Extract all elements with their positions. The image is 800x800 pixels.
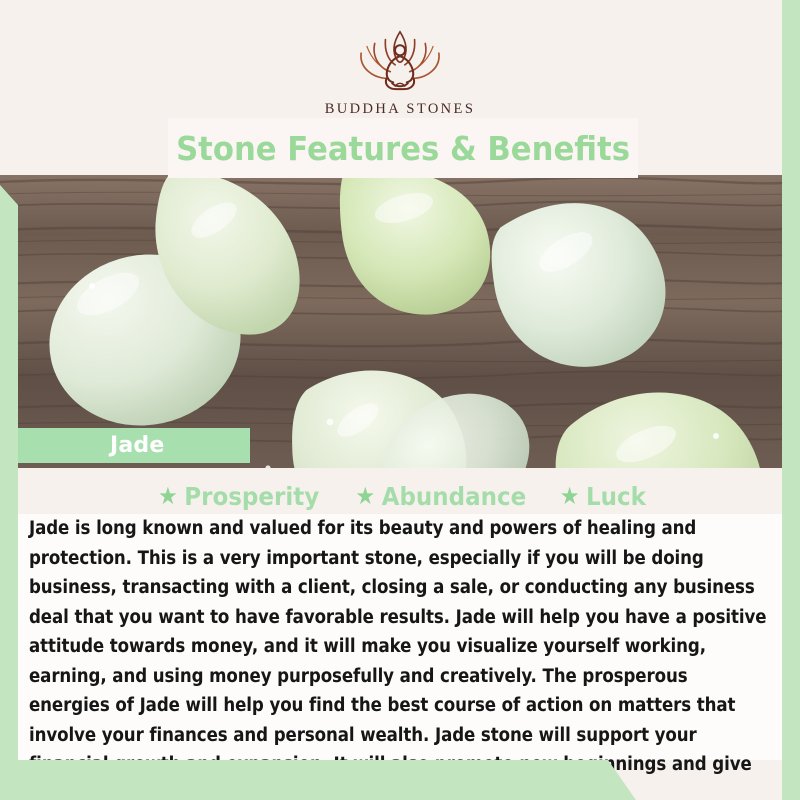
poster-canvas: BUDDHA STONES Stone Features & Benefits … (0, 0, 800, 800)
lotus-meditation-icon (341, 26, 459, 94)
title-plaque: Stone Features & Benefits (168, 118, 638, 178)
description-paragraph: Jade is long known and valued for its be… (29, 514, 773, 800)
decorative-band-right (782, 0, 800, 800)
star-icon: ★ (559, 484, 579, 508)
decorative-band-left (0, 205, 18, 800)
content-top-strip (18, 468, 782, 478)
page-title: Stone Features & Benefits (176, 129, 630, 168)
star-icon: ★ (158, 484, 178, 508)
content-panel: ★ Prosperity ★ Abundance ★ Luck Jade is … (18, 468, 782, 760)
brand-logo: BUDDHA STONES (0, 26, 800, 118)
benefit-abundance: ★ Abundance (355, 482, 526, 511)
decorative-corner-notch-bottom (608, 760, 636, 800)
decorative-band-bottom (0, 760, 608, 800)
decorative-corner-notch-left (0, 185, 18, 205)
benefit-prosperity: ★ Prosperity (158, 482, 319, 511)
benefit-label: Luck (586, 482, 646, 511)
stone-name-banner: Jade (18, 428, 250, 463)
star-icon: ★ (355, 484, 375, 508)
brand-name: BUDDHA STONES (325, 101, 476, 118)
description-text: Jade is long known and valued for its be… (18, 514, 782, 800)
jade-stones-photo (0, 168, 800, 468)
benefit-luck: ★ Luck (559, 482, 645, 511)
stone-name-label: Jade (110, 433, 165, 458)
benefit-label: Abundance (382, 482, 527, 511)
benefits-row: ★ Prosperity ★ Abundance ★ Luck (18, 478, 782, 514)
photo-illustration (0, 168, 800, 468)
benefit-label: Prosperity (184, 482, 319, 511)
